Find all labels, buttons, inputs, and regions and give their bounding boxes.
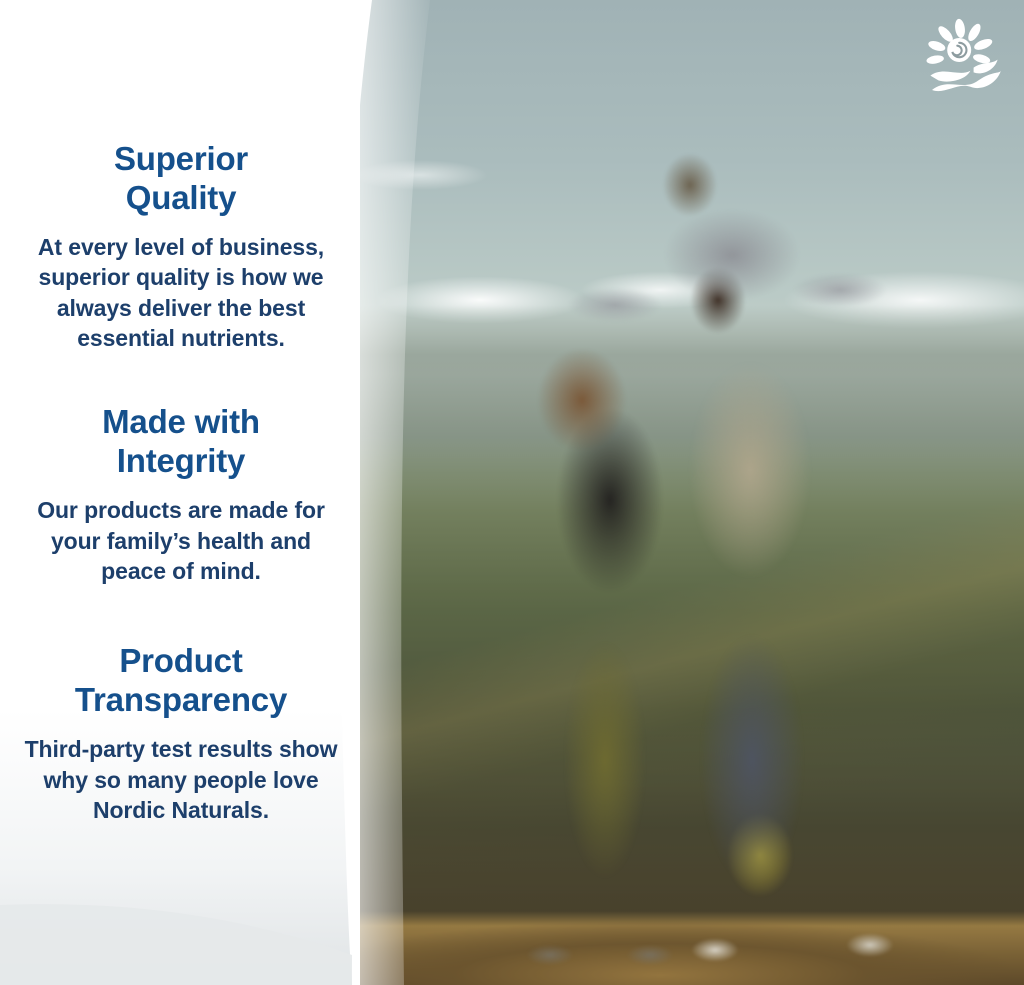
- photo-family-figures: [360, 0, 1024, 985]
- value-block-made-with-integrity: Made with Integrity Our products are mad…: [18, 403, 344, 586]
- heading-line-1: Product: [119, 642, 242, 679]
- body-made-with-integrity: Our products are made for your family’s …: [18, 495, 344, 586]
- brand-values-poster: Superior Quality At every level of busin…: [0, 0, 1024, 985]
- body-superior-quality: At every level of business, superior qua…: [18, 232, 344, 353]
- heading-line-2: Quality: [126, 179, 236, 216]
- heading-made-with-integrity: Made with Integrity: [18, 403, 344, 481]
- value-block-superior-quality: Superior Quality At every level of busin…: [18, 140, 344, 353]
- heading-line-2: Transparency: [75, 681, 287, 718]
- value-block-product-transparency: Product Transparency Third-party test re…: [18, 642, 344, 825]
- sun-wave-logo-icon: [924, 18, 1004, 98]
- heading-product-transparency: Product Transparency: [18, 642, 344, 720]
- heading-line-1: Made with: [102, 403, 260, 440]
- lifestyle-photo: [360, 0, 1024, 985]
- values-text-column: Superior Quality At every level of busin…: [0, 0, 362, 985]
- heading-line-1: Superior: [114, 140, 248, 177]
- heading-line-2: Integrity: [117, 442, 245, 479]
- body-product-transparency: Third-party test results show why so man…: [18, 734, 344, 825]
- heading-superior-quality: Superior Quality: [18, 140, 344, 218]
